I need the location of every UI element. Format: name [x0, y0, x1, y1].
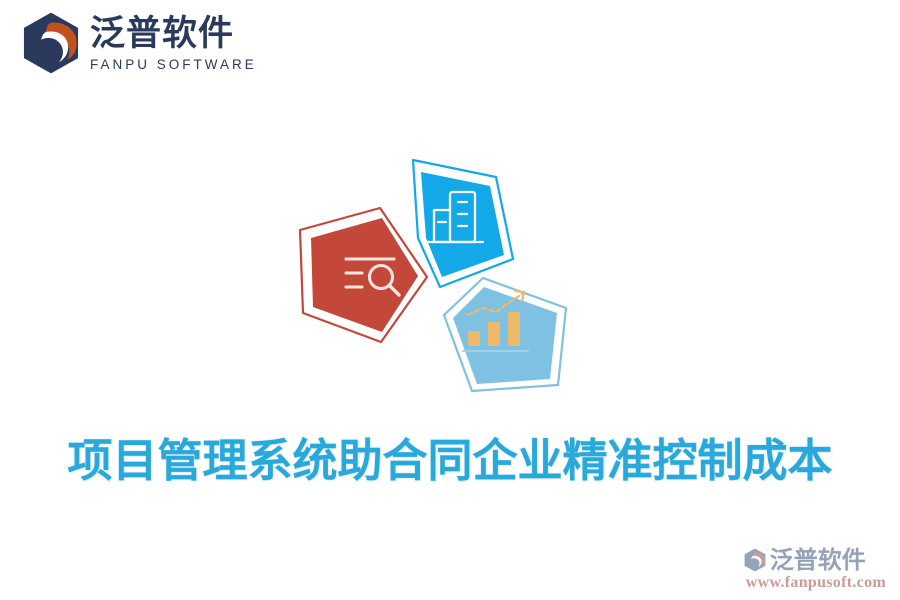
page-canvas: 泛普软件 FANPU SOFTWARE [0, 0, 900, 600]
pentagon-contract-review [300, 208, 427, 342]
page-title: 项目管理系统助合同企业精准控制成本 [0, 430, 900, 492]
brand-name-en: FANPU SOFTWARE [90, 58, 257, 72]
hexagon-swoosh-logo-icon [742, 547, 768, 573]
brand-logo[interactable]: 泛普软件 FANPU SOFTWARE [18, 10, 257, 76]
pentagon-cost-growth [444, 278, 566, 391]
hexagon-swoosh-logo-icon [18, 10, 84, 76]
brand-name-cn: 泛普软件 [90, 17, 257, 52]
watermark-url: www.fanpusoft.com [746, 574, 886, 592]
watermark: 泛普软件 www.fanpusoft.com [742, 547, 886, 592]
watermark-brand-row: 泛普软件 [742, 547, 866, 573]
pentagon-enterprise [413, 160, 513, 287]
watermark-brand-name: 泛普软件 [770, 548, 866, 572]
brand-text-block: 泛普软件 FANPU SOFTWARE [90, 15, 257, 72]
pentagon-cluster-graphic [300, 160, 590, 400]
